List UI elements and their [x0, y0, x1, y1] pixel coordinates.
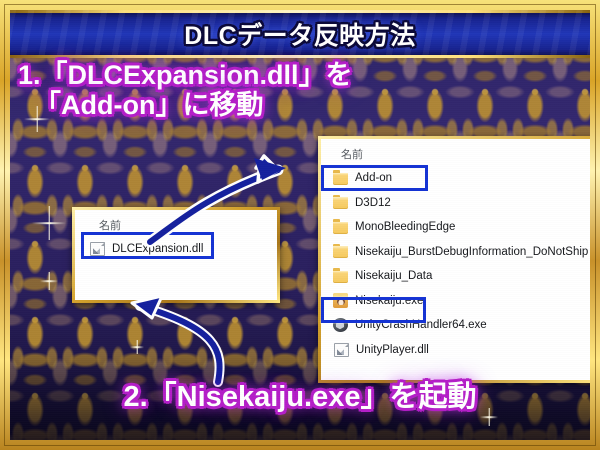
dll-file-icon [90, 242, 105, 256]
list-item[interactable]: UnityPlayer.dll [321, 338, 590, 363]
step-2-heading: 2.「Nisekaiju.exe」を起動 [10, 382, 590, 414]
title-banner: DLCデータ反映方法 [10, 10, 590, 58]
dll-file-icon [334, 343, 349, 357]
file-name: Add-on [355, 172, 392, 184]
list-item[interactable]: MonoBleedingEdge [321, 215, 590, 240]
folder-icon [333, 271, 348, 283]
file-name: UnityCrashHandler64.exe [355, 319, 487, 331]
file-name: DLCExpansion.dll [112, 243, 203, 255]
infographic-root: DLCデータ反映方法 1.「DLCExpansion.dll」を 「Add-on… [0, 0, 600, 450]
file-name: Nisekaiju_BurstDebugInformation_DoNotShi… [355, 246, 588, 258]
file-name: Nisekaiju_Data [355, 270, 432, 282]
list-item[interactable]: Nisekaiju_Data [321, 264, 590, 289]
list-item[interactable]: Nisekaiju_BurstDebugInformation_DoNotShi… [321, 240, 590, 265]
unity-crash-handler-icon [333, 318, 348, 332]
step-1-line-1: 1.「DLCExpansion.dll」を [18, 60, 348, 90]
folder-icon [333, 173, 348, 185]
folder-icon [333, 197, 348, 209]
list-item[interactable]: Nisekaiju.exe [321, 289, 590, 314]
file-name: UnityPlayer.dll [356, 344, 429, 356]
list-item[interactable]: Add-on [321, 166, 590, 191]
folder-icon [333, 246, 348, 258]
inner-canvas: DLCデータ反映方法 1.「DLCExpansion.dll」を 「Add-on… [10, 10, 590, 440]
step-1-heading: 1.「DLCExpansion.dll」を 「Add-on」に移動 [18, 60, 348, 120]
list-item[interactable]: D3D12 [321, 191, 590, 216]
folder-icon [333, 222, 348, 234]
file-name: MonoBleedingEdge [355, 221, 455, 233]
file-name: D3D12 [355, 197, 391, 209]
list-item[interactable]: UnityCrashHandler64.exe [321, 313, 590, 338]
step-2-text: 2.「Nisekaiju.exe」を起動 [124, 382, 477, 414]
left-column-header: 名前 [75, 210, 277, 237]
file-name: Nisekaiju.exe [355, 295, 423, 307]
game-folder-panel[interactable]: 名前 Add-on D3D12 MonoBleedingEdge Nisekai… [318, 136, 590, 383]
right-column-header: 名前 [321, 139, 590, 166]
exe-character-icon [333, 293, 348, 308]
list-item[interactable]: DLCExpansion.dll [75, 237, 277, 260]
page-title: DLCデータ反映方法 [184, 16, 415, 52]
step-1-line-2: 「Add-on」に移動 [18, 90, 348, 120]
source-folder-panel[interactable]: 名前 DLCExpansion.dll [72, 207, 280, 303]
